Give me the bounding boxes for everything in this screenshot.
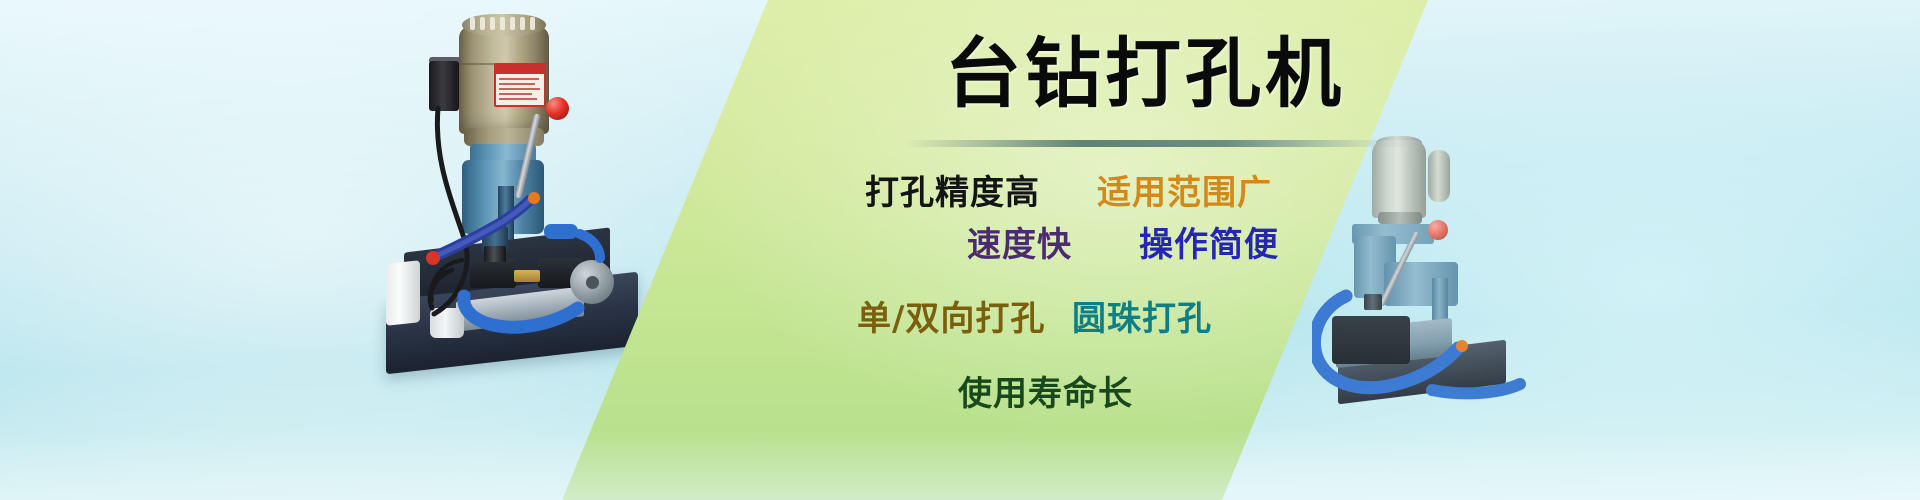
feature-label-precision: 打孔精度高 — [865, 176, 1040, 210]
feature-label-ball-drill: 圆珠打孔 — [1072, 302, 1212, 336]
product-banner: 台钻打孔机 打孔精度高 适用范围广 速度快 操作简便 单/双向打孔 圆珠打孔 使… — [0, 0, 1920, 500]
title-divider — [905, 140, 1425, 147]
feature-label-easy-operate: 操作简便 — [1139, 228, 1279, 262]
feature-label-speed: 速度快 — [967, 228, 1072, 262]
text-content-block: 台钻打孔机 打孔精度高 适用范围广 速度快 操作简便 单/双向打孔 圆珠打孔 使… — [0, 0, 1920, 500]
feature-label-range: 适用范围广 — [1097, 176, 1272, 210]
feature-label-single-dual: 单/双向打孔 — [857, 302, 1045, 336]
page-title: 台钻打孔机 — [945, 36, 1345, 112]
feature-label-lifespan: 使用寿命长 — [958, 377, 1133, 411]
